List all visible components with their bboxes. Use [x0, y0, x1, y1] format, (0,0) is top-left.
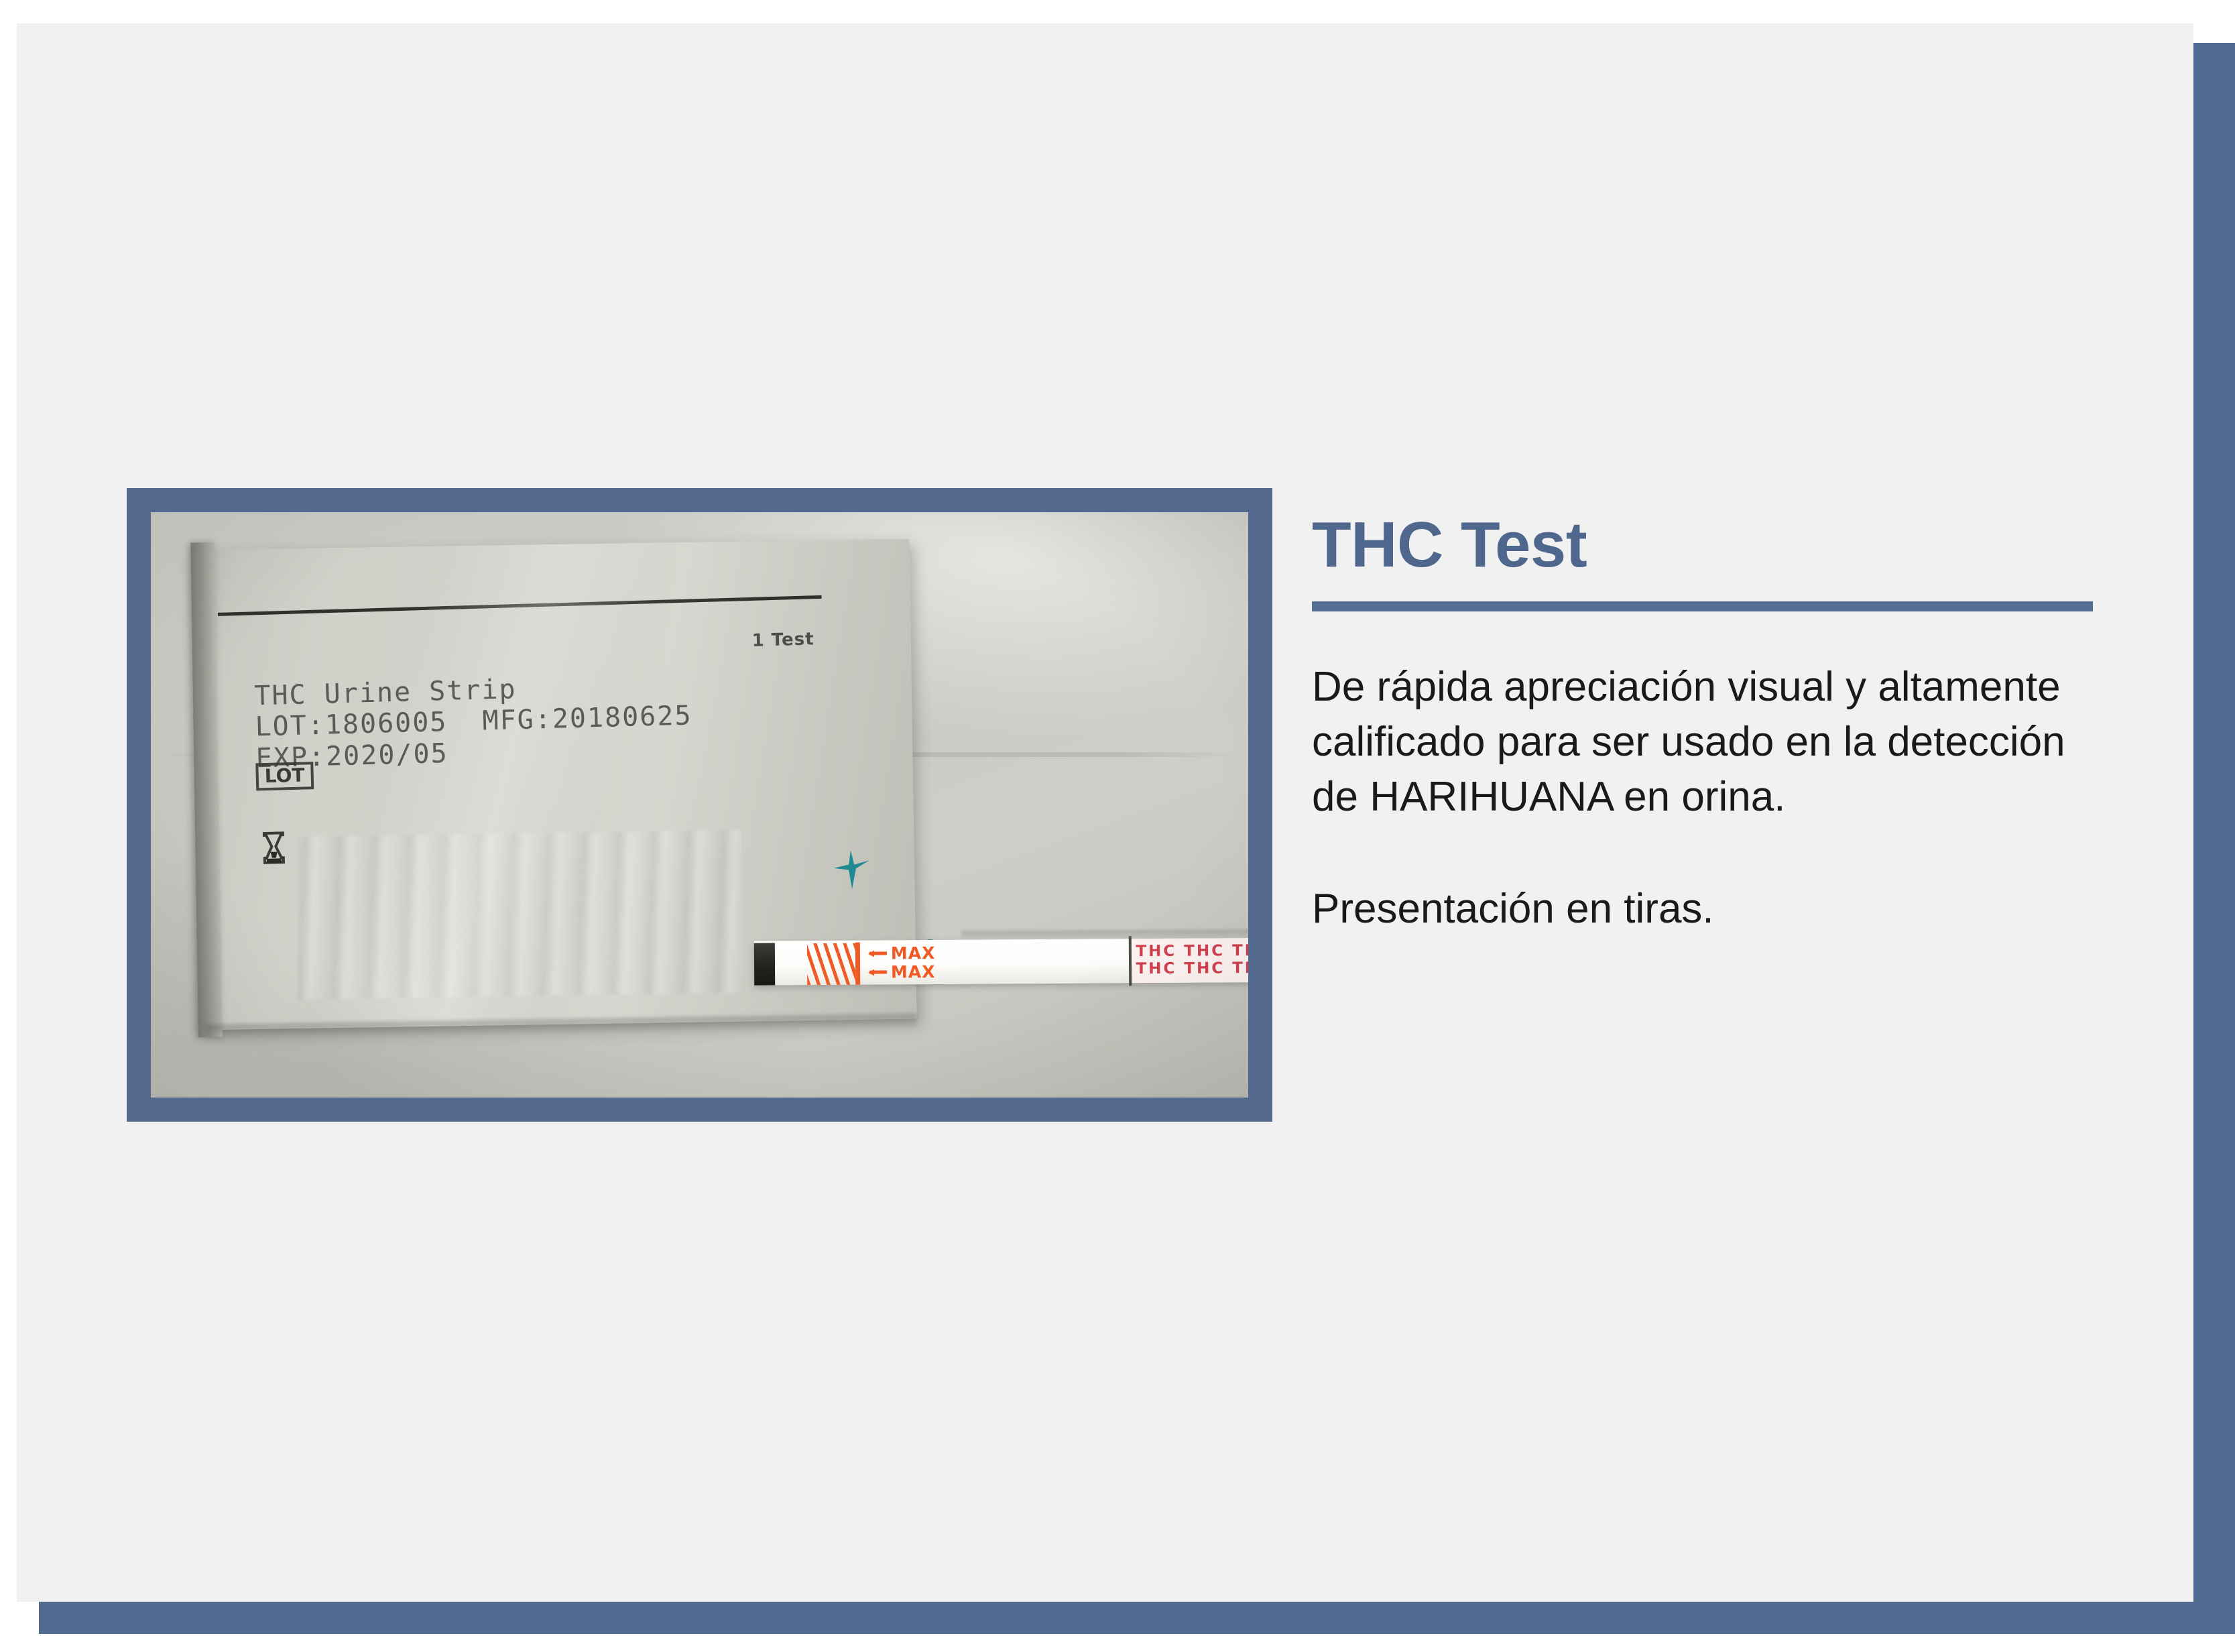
- strip-max-row-top: MAX: [869, 945, 967, 962]
- page-title: THC Test: [1312, 513, 2096, 577]
- strip-thc-text-top: THC THC THC THC THC THC THC THC: [1136, 943, 1248, 961]
- description-paragraph-secondary: Presentación en tiras.: [1312, 882, 2096, 937]
- strip-max-label-bottom: MAX: [891, 964, 936, 981]
- photo-frame: THC Urine Strip LOT:1806005 MFG:20180625…: [127, 488, 1272, 1122]
- title-underline-rule: [1312, 601, 2093, 611]
- left-arrow-icon: [869, 971, 887, 974]
- text-column: THC Test De rápida apreciación visual y …: [1312, 513, 2096, 937]
- strip-max-label-top: MAX: [891, 945, 936, 962]
- strip-max-hatch-marks: [807, 943, 856, 986]
- strip-hatch-edge-line: [855, 943, 860, 986]
- strip-upper-shadow: [961, 929, 1248, 941]
- packet-printed-text: THC Urine Strip LOT:1806005 MFG:20180625…: [254, 670, 693, 774]
- strip-thc-text-bottom: THC THC THC THC THC THC THC THC: [1136, 960, 1248, 979]
- strip-divider-line: [1129, 936, 1132, 986]
- packet-test-count-label: 1 Test: [751, 630, 814, 651]
- strip-thc-branding-zone: THC THC THC THC THC THC THC THC THC THC …: [1134, 938, 1248, 984]
- strip-absorbent-tip: [754, 943, 775, 986]
- strip-max-markings: MAX MAX: [869, 943, 967, 982]
- left-arrow-icon: [869, 952, 887, 955]
- accent-bar-right: [2193, 43, 2235, 1602]
- hourglass-use-by-icon: [261, 831, 287, 864]
- description-paragraph-primary: De rápida apreciación visual y altamente…: [1312, 660, 2096, 824]
- slide-canvas: THC Urine Strip LOT:1806005 MFG:20180625…: [17, 23, 2193, 1602]
- product-photo: THC Urine Strip LOT:1806005 MFG:20180625…: [151, 512, 1248, 1098]
- thc-test-strip: MAX MAX THC THC THC THC THC THC THC THC …: [754, 938, 1248, 986]
- lot-symbol: LOT: [256, 762, 314, 790]
- teal-pen-mark-icon: [830, 847, 873, 892]
- strip-max-row-bottom: MAX: [869, 963, 967, 981]
- accent-bar-bottom: [39, 1602, 2235, 1634]
